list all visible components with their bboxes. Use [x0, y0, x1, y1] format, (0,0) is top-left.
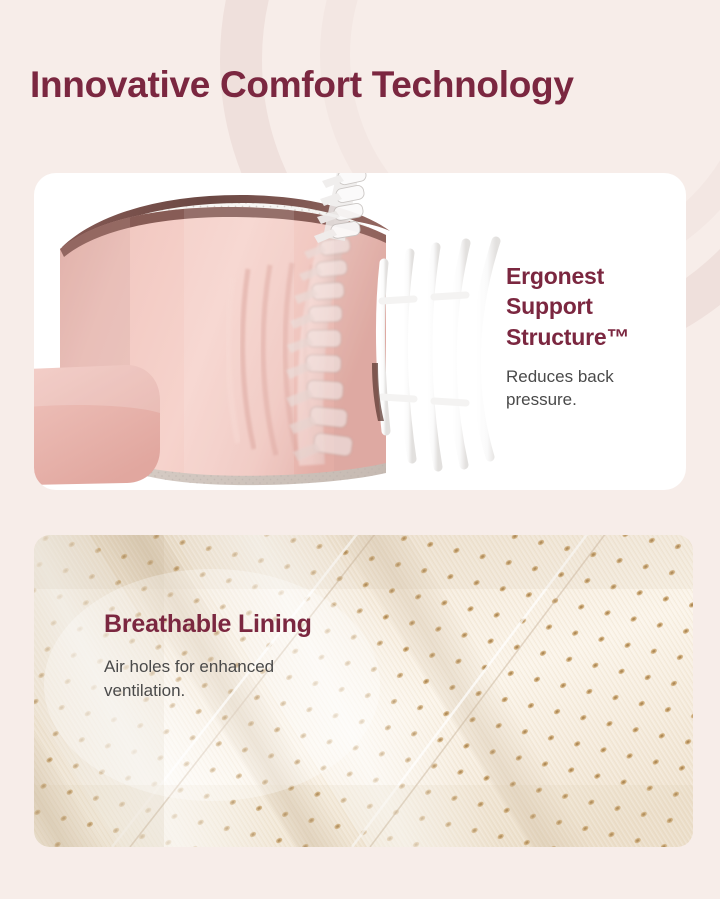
page-title: Innovative Comfort Technology — [30, 64, 574, 106]
support-structure-heading: Ergonest Support Structure™ — [506, 261, 686, 352]
feature-card-breathable-lining: Breathable Lining Air holes for enhanced… — [34, 535, 693, 847]
support-belt-illustration — [34, 173, 504, 490]
feature-card-support-structure: Ergonest Support Structure™ Reduces back… — [34, 173, 686, 490]
breathable-lining-heading: Breathable Lining — [104, 607, 334, 642]
breathable-lining-subtext: Air holes for enhanced ventilation. — [104, 655, 334, 703]
breathable-lining-text-block: Breathable Lining Air holes for enhanced… — [104, 607, 334, 703]
support-structure-text-block: Ergonest Support Structure™ Reduces back… — [506, 261, 686, 412]
support-structure-subtext: Reduces back pressure. — [506, 366, 686, 412]
